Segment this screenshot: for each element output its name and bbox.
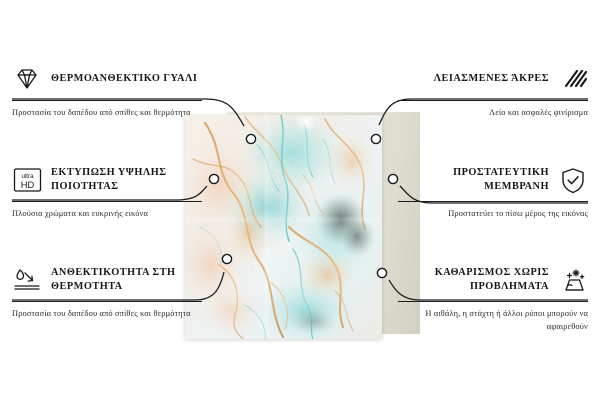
product-image-group bbox=[185, 112, 420, 339]
feature-heat-durability: ΑΝΘΕΚΤΙΚΟΤΗΤΑ ΣΤΗ ΘΕΡΜΟΤΗΤΑ Προστασία το… bbox=[12, 263, 202, 321]
feature-header: ultra HD ΕΚΤΥΠΩΣΗ ΥΨΗΛΗΣ ΠΟΙΟΤΗΤΑΣ bbox=[12, 163, 202, 197]
ultra-hd-icon: ultra HD bbox=[12, 165, 42, 195]
feature-header: ΚΑΘΑΡΙΣΜΟΣ ΧΩΡΙΣ ΠΡΟΒΛΗΜΑΤΑ bbox=[398, 263, 588, 297]
diamond-icon bbox=[12, 64, 42, 94]
feature-title: ΘΕΡΜΟΑΝΘΕΚΤΙΚΟ ΓΥΑΛΙ bbox=[51, 72, 197, 86]
feature-protective-film: ΠΡΟΣΤΑΤΕΥΤΙΚΗ ΜΕΜΒΡΑΝΗ Προστατεύει το πί… bbox=[398, 163, 588, 221]
ultra-hd-bottom-label: HD bbox=[20, 179, 34, 190]
sparkle-clean-icon bbox=[558, 265, 588, 295]
feature-description: Προστασία του δαπέδου από σπίθες και θερ… bbox=[12, 107, 202, 120]
feature-divider bbox=[12, 201, 202, 202]
feature-easy-cleaning: ΚΑΘΑΡΙΣΜΟΣ ΧΩΡΙΣ ΠΡΟΒΛΗΜΑΤΑ Η αιθάλη, η … bbox=[398, 263, 588, 333]
feature-title: ΕΚΤΥΠΩΣΗ ΥΨΗΛΗΣ ΠΟΙΟΤΗΤΑΣ bbox=[51, 166, 202, 193]
feature-divider bbox=[398, 201, 588, 202]
feature-description: Προστασία του δαπέδου από σπίθες και θερ… bbox=[12, 308, 202, 321]
feature-title: ΛΕΙΑΣΜΕΝΕΣ ΆΚΡΕΣ bbox=[434, 72, 549, 86]
feature-polished-edges: ΛΕΙΑΣΜΕΝΕΣ ΆΚΡΕΣ Λείο και ασφαλές φινίρι… bbox=[398, 62, 588, 120]
feature-title: ΑΝΘΕΚΤΙΚΟΤΗΤΑ ΣΤΗ ΘΕΡΜΟΤΗΤΑ bbox=[51, 266, 202, 293]
feature-divider bbox=[12, 100, 202, 101]
feature-divider bbox=[398, 100, 588, 101]
feature-description: Πλούσια χρώματα και ευκρινής εικόνα bbox=[12, 208, 202, 221]
feature-description: Λείο και ασφαλές φινίρισμα bbox=[398, 107, 588, 120]
polished-edges-icon bbox=[558, 64, 588, 94]
feature-title: ΠΡΟΣΤΑΤΕΥΤΙΚΗ ΜΕΜΒΡΑΝΗ bbox=[398, 166, 549, 193]
feature-header: ΑΝΘΕΚΤΙΚΟΤΗΤΑ ΣΤΗ ΘΕΡΜΟΤΗΤΑ bbox=[12, 263, 202, 297]
feature-high-quality-print: ultra HD ΕΚΤΥΠΩΣΗ ΥΨΗΛΗΣ ΠΟΙΟΤΗΤΑΣ Πλούσ… bbox=[12, 163, 202, 221]
feature-description: Η αιθάλη, η στάχτη ή άλλοι ρύποι μπορούν… bbox=[398, 308, 588, 333]
feature-description: Προστατεύει το πίσω μέρος της εικόνας bbox=[398, 208, 588, 221]
marble-artwork bbox=[185, 115, 382, 339]
flame-deflect-icon bbox=[12, 265, 42, 295]
feature-header: ΛΕΙΑΣΜΕΝΕΣ ΆΚΡΕΣ bbox=[398, 62, 588, 96]
feature-header: ΘΕΡΜΟΑΝΘΕΚΤΙΚΟ ΓΥΑΛΙ bbox=[12, 62, 202, 96]
product-glass-panel bbox=[185, 115, 382, 339]
feature-title: ΚΑΘΑΡΙΣΜΟΣ ΧΩΡΙΣ ΠΡΟΒΛΗΜΑΤΑ bbox=[398, 266, 549, 293]
feature-heat-resistant-glass: ΘΕΡΜΟΑΝΘΕΚΤΙΚΟ ΓΥΑΛΙ Προστασία του δαπέδ… bbox=[12, 62, 202, 120]
feature-divider bbox=[398, 301, 588, 302]
feature-divider bbox=[12, 301, 202, 302]
shield-check-icon bbox=[558, 165, 588, 195]
feature-header: ΠΡΟΣΤΑΤΕΥΤΙΚΗ ΜΕΜΒΡΑΝΗ bbox=[398, 163, 588, 197]
infographic-canvas: ΘΕΡΜΟΑΝΘΕΚΤΙΚΟ ΓΥΑΛΙ Προστασία του δαπέδ… bbox=[0, 0, 600, 400]
